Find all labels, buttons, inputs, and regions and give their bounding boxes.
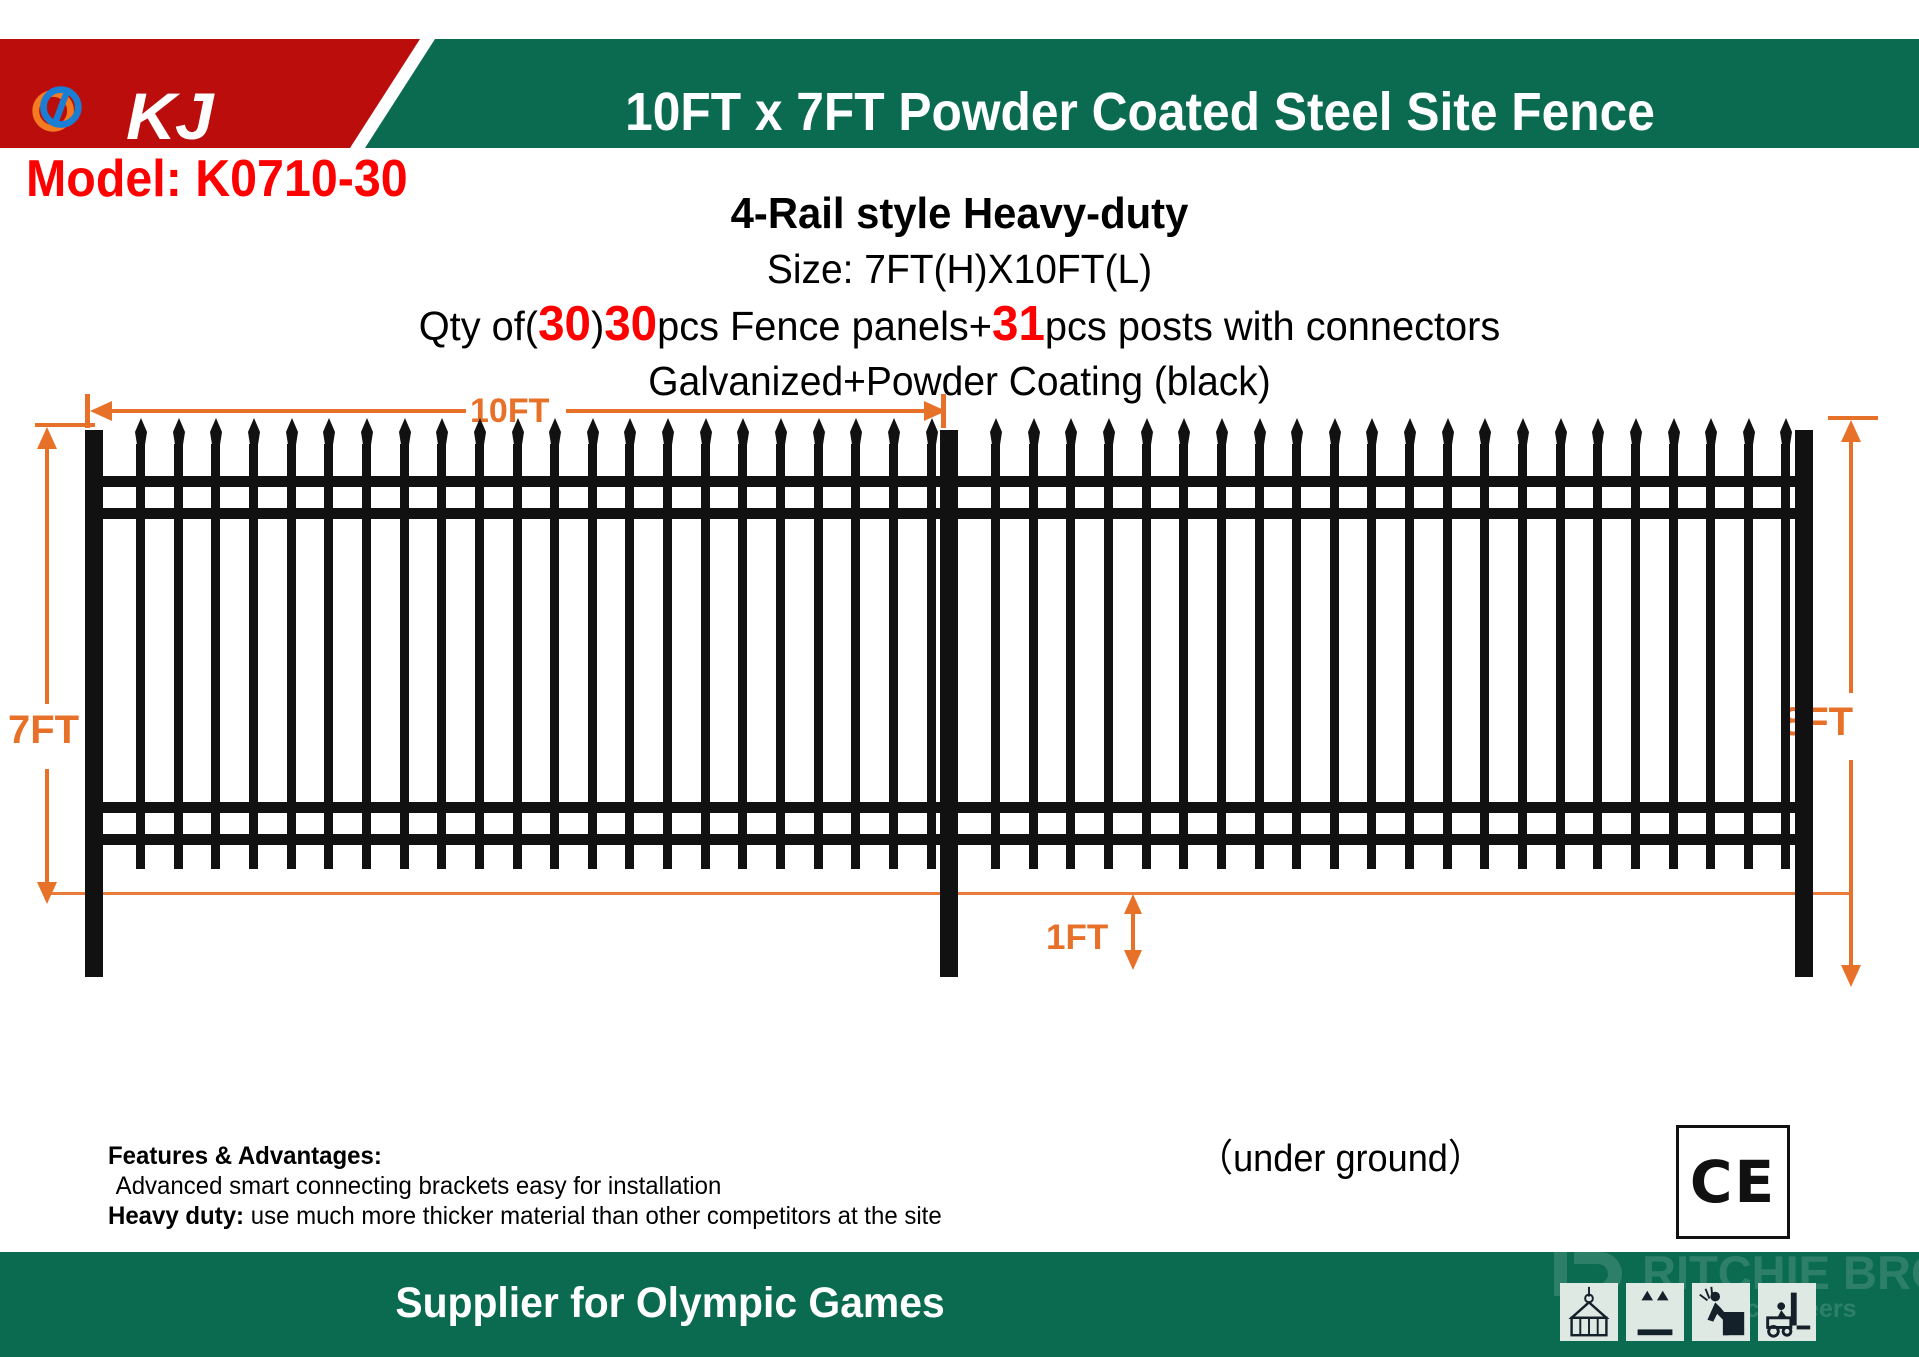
- features-line-2: use much more thicker material than othe…: [244, 1202, 942, 1230]
- picket-spear-finial-icon: [322, 418, 336, 448]
- fence-picket: [1104, 444, 1113, 869]
- picket-spear-finial-icon: [699, 418, 713, 448]
- picket-spear-finial-icon: [511, 418, 525, 448]
- picket-spear-finial-icon: [925, 418, 939, 448]
- no-stepping-icon: [1692, 1283, 1750, 1341]
- features-heavyduty-label: Heavy duty:: [108, 1202, 244, 1230]
- fence-picket: [174, 444, 183, 869]
- fence-picket: [814, 444, 823, 869]
- fence-picket: [400, 444, 409, 869]
- picket-spear-finial-icon: [1779, 418, 1793, 448]
- fence-picket: [1367, 444, 1376, 869]
- ce-mark: CE: [1676, 1125, 1790, 1239]
- kj-circle-logo-icon: [28, 80, 86, 138]
- qty-prefix: Qty of(: [419, 303, 538, 349]
- picket-spear-finial-icon: [209, 418, 223, 448]
- fence-picket: [1066, 444, 1075, 869]
- fence-picket: [211, 444, 220, 869]
- dim-8ft-label: 8FT: [1782, 702, 1853, 742]
- picket-spear-finial-icon: [1215, 418, 1229, 448]
- dim-1ft-label: 1FT: [1046, 920, 1108, 955]
- picket-spear-finial-icon: [1742, 418, 1756, 448]
- picket-spear-finial-icon: [435, 418, 449, 448]
- fence-picket: [287, 444, 296, 869]
- picket-spear-finial-icon: [398, 418, 412, 448]
- dim-7ft-line-upper: [45, 442, 49, 704]
- forklift-icon: [1758, 1283, 1816, 1341]
- picket-spear-finial-icon: [887, 418, 901, 448]
- dim-8ft-arrow-up-icon: [1841, 420, 1861, 442]
- picket-spear-finial-icon: [360, 418, 374, 448]
- picket-spear-finial-icon: [1629, 418, 1643, 448]
- picket-spear-finial-icon: [736, 418, 750, 448]
- fence-picket: [927, 444, 936, 869]
- brand-name: KJ: [126, 83, 212, 149]
- this-way-up-icon: [1626, 1283, 1684, 1341]
- picket-spear-finial-icon: [1064, 418, 1078, 448]
- picket-spear-finial-icon: [1478, 418, 1492, 448]
- shipping-pictograms: [1560, 1283, 1816, 1341]
- picket-spear-finial-icon: [247, 418, 261, 448]
- picket-spear-finial-icon: [134, 418, 148, 448]
- picket-spear-finial-icon: [623, 418, 637, 448]
- fence-post: [85, 430, 103, 977]
- dim-1ft-arrow-down-icon: [1124, 950, 1142, 970]
- dim-8ft-line-lower: [1849, 760, 1853, 975]
- picket-spear-finial-icon: [1177, 418, 1191, 448]
- picket-spear-finial-icon: [1328, 418, 1342, 448]
- qty-panel-number: 30: [604, 297, 657, 351]
- dim-7ft-label: 7FT: [8, 710, 79, 750]
- picket-spear-finial-icon: [1365, 418, 1379, 448]
- fence-picket: [1255, 444, 1264, 869]
- qty-posts-text: pcs posts with connectors: [1045, 303, 1500, 349]
- fence-picket: [324, 444, 333, 869]
- fence-picket: [475, 444, 484, 869]
- picket-spear-finial-icon: [849, 418, 863, 448]
- picket-spear-finial-icon: [586, 418, 600, 448]
- qty-panels-text: pcs Fence panels+: [657, 303, 992, 349]
- picket-spear-finial-icon: [1102, 418, 1116, 448]
- header-banner: KJ 10FT x 7FT Powder Coated Steel Site F…: [0, 39, 1919, 148]
- qty-post-number: 31: [992, 297, 1045, 351]
- picket-spear-finial-icon: [774, 418, 788, 448]
- picket-spear-finial-icon: [1403, 418, 1417, 448]
- fence-picket: [1480, 444, 1489, 869]
- fence-post: [940, 430, 958, 977]
- picket-spear-finial-icon: [1290, 418, 1304, 448]
- fence-picket: [701, 444, 710, 869]
- fragile-crate-hoist-icon: [1560, 1283, 1618, 1341]
- fence-picket: [1781, 444, 1790, 869]
- spec-quantity: Qty of(30)30pcs Fence panels+31pcs posts…: [29, 296, 1890, 354]
- fence-picket: [1669, 444, 1678, 869]
- fence-picket: [1443, 444, 1452, 869]
- spec-block: 4-Rail style Heavy-duty Size: 7FT(H)X10F…: [0, 186, 1919, 408]
- dim-8ft-arrow-down-icon: [1841, 965, 1861, 987]
- fence-picket: [663, 444, 672, 869]
- picket-spear-finial-icon: [989, 418, 1003, 448]
- dim-7ft-arrow-up-icon: [37, 427, 57, 449]
- qty-paren-number: 30: [538, 297, 591, 351]
- fence-picket: [738, 444, 747, 869]
- fence-picket: [1029, 444, 1038, 869]
- dim-width-arrow-left-icon: [90, 401, 112, 421]
- fence-picket: [1217, 444, 1226, 869]
- fence-picket: [362, 444, 371, 869]
- ce-mark-text: CE: [1679, 1128, 1787, 1236]
- picket-spear-finial-icon: [1516, 418, 1530, 448]
- underground-label: （under ground）: [1197, 1140, 1484, 1178]
- picket-spear-finial-icon: [812, 418, 826, 448]
- dim-7ft-line-lower: [45, 769, 49, 891]
- dim-width-line-a: [96, 409, 466, 413]
- picket-spear-finial-icon: [1140, 418, 1154, 448]
- dim-1ft-arrow-up-icon: [1124, 894, 1142, 914]
- fence-picket: [1518, 444, 1527, 869]
- fence-post: [1795, 430, 1813, 977]
- picket-spear-finial-icon: [1591, 418, 1605, 448]
- picket-spear-finial-icon: [1027, 418, 1041, 448]
- fence-picket: [625, 444, 634, 869]
- picket-spear-finial-icon: [1554, 418, 1568, 448]
- picket-spear-finial-icon: [1704, 418, 1718, 448]
- fence-picket: [136, 444, 145, 869]
- dim-8ft-line-upper: [1849, 435, 1853, 693]
- dim-width-line-b: [566, 409, 936, 413]
- product-title: 10FT x 7FT Powder Coated Steel Site Fenc…: [459, 85, 1821, 139]
- picket-spear-finial-icon: [548, 418, 562, 448]
- fence-picket: [1706, 444, 1715, 869]
- fence-picket: [588, 444, 597, 869]
- fence-picket: [1179, 444, 1188, 869]
- spec-size: Size: 7FT(H)X10FT(L): [48, 242, 1871, 296]
- spec-style: 4-Rail style Heavy-duty: [48, 186, 1871, 242]
- features-heading: Features & Advantages:: [108, 1142, 382, 1170]
- fence-picket: [550, 444, 559, 869]
- fence-picket: [1330, 444, 1339, 869]
- picket-spear-finial-icon: [1441, 418, 1455, 448]
- fence-picket: [513, 444, 522, 869]
- fence-picket: [1556, 444, 1565, 869]
- fence-picket: [437, 444, 446, 869]
- fence-picket: [1405, 444, 1414, 869]
- picket-spear-finial-icon: [172, 418, 186, 448]
- fence-picket: [1593, 444, 1602, 869]
- fence-picket: [249, 444, 258, 869]
- picket-spear-finial-icon: [1253, 418, 1267, 448]
- fence-picket: [776, 444, 785, 869]
- fence-picket: [1631, 444, 1640, 869]
- fence-picket: [1292, 444, 1301, 869]
- picket-spear-finial-icon: [1667, 418, 1681, 448]
- qty-mid: ): [591, 303, 604, 349]
- picket-spear-finial-icon: [285, 418, 299, 448]
- fence-picket: [851, 444, 860, 869]
- fence-picket: [1744, 444, 1753, 869]
- picket-spear-finial-icon: [473, 418, 487, 448]
- fence-elevation-drawing: 10FT 7FT 8FT 1FT: [0, 392, 1919, 1252]
- fence-picket: [1142, 444, 1151, 869]
- fence-picket: [889, 444, 898, 869]
- footer-tagline: Supplier for Olympic Games: [34, 1282, 1307, 1325]
- fence-picket: [991, 444, 1000, 869]
- features-block: Features & Advantages: Advanced smart co…: [108, 1141, 942, 1231]
- picket-spear-finial-icon: [661, 418, 675, 448]
- features-line-1: Advanced smart connecting brackets easy …: [108, 1172, 721, 1200]
